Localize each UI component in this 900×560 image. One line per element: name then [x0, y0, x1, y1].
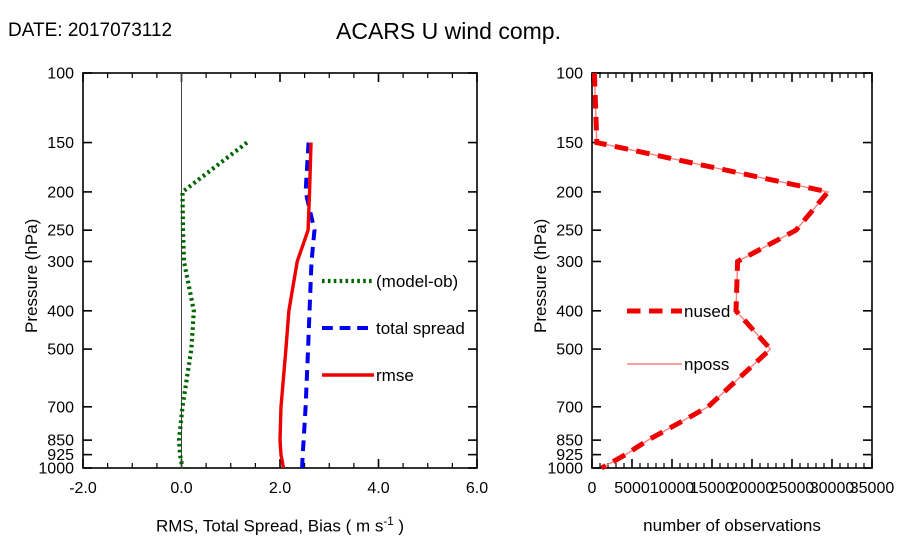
right-y-tick-label: 1000 [547, 461, 583, 478]
right-y-tick-label: 150 [556, 135, 583, 152]
right-x-tick-label: 15000 [690, 480, 735, 497]
right-x-tick-label: 35000 [850, 480, 895, 497]
right-panel-frame [592, 73, 872, 468]
left-series-modelob [179, 143, 247, 468]
right-legend-label-nused: nused [684, 302, 730, 321]
right-x-tick-label: 0 [588, 480, 597, 497]
plot-graphics: 1001502002503004005007008509251000100150… [0, 0, 900, 560]
left-y-tick-label: 400 [47, 303, 74, 320]
right-y-tick-label: 700 [556, 399, 583, 416]
left-y-tick-label: 700 [47, 399, 74, 416]
right-x-tick-label: 5000 [614, 480, 650, 497]
right-series-nposs [594, 73, 828, 468]
right-y-tick-label: 100 [556, 66, 583, 83]
right-series-nused [594, 73, 828, 468]
left-x-tick-label: 6.0 [466, 480, 488, 497]
left-y-tick-label: 300 [47, 254, 74, 271]
chart-canvas: DATE: 2017073112 ACARS U wind comp. Pres… [0, 0, 900, 560]
left-x-tick-label: 2.0 [269, 480, 291, 497]
left-x-tick-label: 0.0 [170, 480, 192, 497]
left-y-tick-label: 200 [47, 184, 74, 201]
left-y-tick-label: 100 [47, 66, 74, 83]
right-x-tick-label: 20000 [730, 480, 775, 497]
right-legend-label-nposs: nposs [684, 355, 729, 374]
left-y-tick-label: 250 [47, 223, 74, 240]
right-x-tick-label: 25000 [770, 480, 815, 497]
right-y-tick-label: 300 [556, 254, 583, 271]
left-y-tick-label: 1000 [38, 461, 74, 478]
right-y-tick-label: 400 [556, 303, 583, 320]
left-y-tick-label: 150 [47, 135, 74, 152]
right-y-tick-label: 250 [556, 223, 583, 240]
right-x-tick-label: 30000 [810, 480, 855, 497]
left-legend-label-totalspread: total spread [376, 319, 465, 338]
left-y-tick-label: 500 [47, 342, 74, 359]
left-legend-label-modelob: (model-ob) [376, 272, 458, 291]
left-series-rmse [280, 143, 311, 468]
left-x-tick-label: -2.0 [69, 480, 97, 497]
right-y-tick-label: 200 [556, 184, 583, 201]
left-x-tick-label: 4.0 [367, 480, 389, 497]
right-x-tick-label: 10000 [650, 480, 695, 497]
left-legend-label-rmse: rmse [376, 366, 414, 385]
right-y-tick-label: 500 [556, 342, 583, 359]
